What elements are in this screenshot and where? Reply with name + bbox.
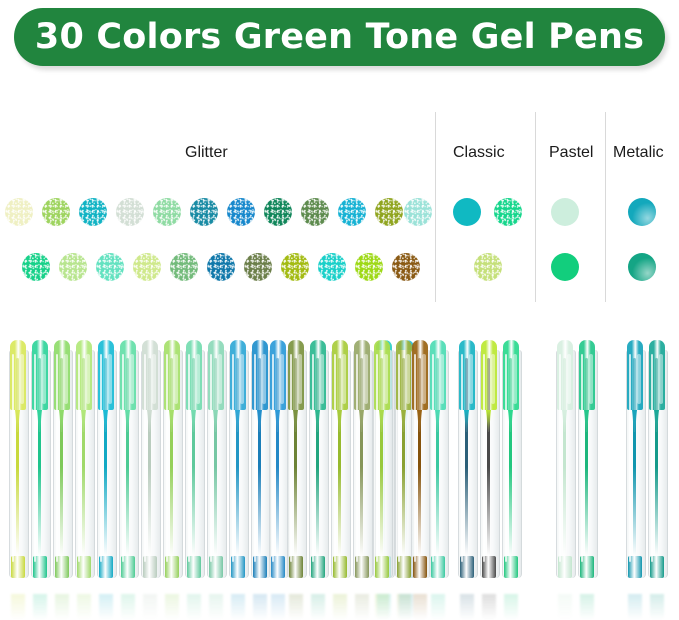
pen-reflection xyxy=(375,594,389,620)
pen-glitter-4 xyxy=(74,340,94,600)
pen-highlight xyxy=(505,354,507,562)
pen-highlight xyxy=(254,354,256,562)
color-swatch-metalic-2 xyxy=(628,253,656,281)
pen-highlight xyxy=(414,354,416,562)
pen-reflection xyxy=(121,594,135,620)
pen-reflection xyxy=(431,594,445,620)
pen-glitter-17 xyxy=(352,340,372,600)
pen-glitter-8 xyxy=(162,340,182,600)
color-swatch-glitter-row2-1 xyxy=(22,253,50,281)
pen-highlight xyxy=(432,354,434,562)
pen-reflection xyxy=(628,594,642,620)
color-swatch-glitter-row1-5 xyxy=(153,198,181,226)
pen-clip xyxy=(589,354,593,404)
color-swatch-glitter-row1-6 xyxy=(190,198,218,226)
color-swatch-glitter-row2-5 xyxy=(170,253,198,281)
pen-clip xyxy=(384,354,388,404)
pen-clip xyxy=(567,354,571,404)
pen-pastel-1 xyxy=(555,340,575,600)
pen-clip xyxy=(86,354,90,404)
color-swatch-classic-2 xyxy=(494,198,522,226)
color-swatch-glitter-row2-11 xyxy=(392,253,420,281)
pen-reflection xyxy=(397,594,411,620)
pen-highlight xyxy=(34,354,36,562)
color-swatch-classic-1 xyxy=(453,198,481,226)
pen-reflection xyxy=(77,594,91,620)
pen-clip xyxy=(108,354,112,404)
pen-glitter-9 xyxy=(184,340,204,600)
color-swatch-glitter-row1-1 xyxy=(5,198,33,226)
pen-highlight xyxy=(461,354,463,562)
pen-highlight xyxy=(166,354,168,562)
pen-classic-1 xyxy=(457,340,477,600)
pen-reflection xyxy=(333,594,347,620)
pen-clip xyxy=(262,354,266,404)
pen-reflection xyxy=(580,594,594,620)
pen-glitter-1 xyxy=(8,340,28,600)
category-label-classic: Classic xyxy=(453,144,505,162)
pen-reflection xyxy=(311,594,325,620)
pen-reflection xyxy=(460,594,474,620)
pen-highlight xyxy=(290,354,292,562)
pen-highlight xyxy=(272,354,274,562)
header-banner: 30 Colors Green Tone Gel Pens xyxy=(14,8,665,66)
pen-highlight xyxy=(312,354,314,562)
pen-glitter-11 xyxy=(228,340,248,600)
pen-highlight xyxy=(188,354,190,562)
pen-clip xyxy=(513,354,517,404)
pen-highlight xyxy=(122,354,124,562)
category-label-pastel: Pastel xyxy=(549,144,593,162)
pen-reflection xyxy=(253,594,267,620)
pen-reflection xyxy=(11,594,25,620)
category-divider-1 xyxy=(535,112,536,302)
pen-clip xyxy=(280,354,284,404)
pen-clip xyxy=(130,354,134,404)
pen-clip xyxy=(637,354,641,404)
pen-clip xyxy=(196,354,200,404)
color-swatch-glitter-row2-2 xyxy=(59,253,87,281)
pen-clip xyxy=(469,354,473,404)
pen-glitter-14 xyxy=(286,340,306,600)
pen-reflection xyxy=(558,594,572,620)
pen-reflection xyxy=(289,594,303,620)
pen-glitter-23 xyxy=(428,340,448,600)
pen-clip xyxy=(240,354,244,404)
pen-clip xyxy=(20,354,24,404)
color-swatch-classic-3 xyxy=(474,253,502,281)
pen-reflection xyxy=(482,594,496,620)
pen-reflection xyxy=(231,594,245,620)
pen-clip xyxy=(298,354,302,404)
pen-glitter-7 xyxy=(140,340,160,600)
pen-clip xyxy=(218,354,222,404)
color-swatch-pastel-2 xyxy=(551,253,579,281)
color-swatch-glitter-row2-4 xyxy=(133,253,161,281)
pen-clip xyxy=(64,354,68,404)
pen-reflection xyxy=(55,594,69,620)
pen-reflection xyxy=(413,594,427,620)
pen-highlight xyxy=(210,354,212,562)
pen-highlight xyxy=(12,354,14,562)
pen-highlight xyxy=(398,354,400,562)
pen-reflection xyxy=(143,594,157,620)
pen-reflection xyxy=(165,594,179,620)
color-swatch-glitter-row1-9 xyxy=(301,198,329,226)
pen-highlight xyxy=(356,354,358,562)
pen-reflection xyxy=(209,594,223,620)
pen-metalic-2 xyxy=(647,340,667,600)
color-swatch-glitter-row1-10 xyxy=(338,198,366,226)
pen-reflection xyxy=(99,594,113,620)
pen-clip xyxy=(491,354,495,404)
pen-reflection xyxy=(187,594,201,620)
pen-clip xyxy=(174,354,178,404)
pen-clip xyxy=(320,354,324,404)
pen-reflection xyxy=(650,594,664,620)
pen-highlight xyxy=(334,354,336,562)
pen-clip xyxy=(440,354,444,404)
category-divider-2 xyxy=(605,112,606,302)
pen-highlight xyxy=(483,354,485,562)
color-swatch-glitter-row2-10 xyxy=(355,253,383,281)
pen-highlight xyxy=(629,354,631,562)
pen-glitter-13 xyxy=(268,340,288,600)
pen-glitter-6 xyxy=(118,340,138,600)
pen-glitter-5 xyxy=(96,340,116,600)
pen-clip xyxy=(659,354,663,404)
pen-classic-2 xyxy=(479,340,499,600)
pen-highlight xyxy=(232,354,234,562)
pen-glitter-20 xyxy=(372,340,392,600)
pen-reflection xyxy=(271,594,285,620)
color-swatch-metalic-1 xyxy=(628,198,656,226)
color-swatch-glitter-row2-3 xyxy=(96,253,124,281)
pen-glitter-2 xyxy=(30,340,50,600)
pen-clip xyxy=(364,354,368,404)
pen-glitter-3 xyxy=(52,340,72,600)
pen-clip xyxy=(342,354,346,404)
color-swatch-glitter-row1-3 xyxy=(79,198,107,226)
category-label-metalic: Metalic xyxy=(613,144,664,162)
category-label-glitter: Glitter xyxy=(185,144,228,162)
page-title: 30 Colors Green Tone Gel Pens xyxy=(35,17,644,57)
color-swatch-glitter-row2-9 xyxy=(318,253,346,281)
color-swatch-glitter-row2-6 xyxy=(207,253,235,281)
pen-reflection xyxy=(504,594,518,620)
category-divider-0 xyxy=(435,112,436,302)
pen-clip xyxy=(42,354,46,404)
pen-reflection xyxy=(33,594,47,620)
color-swatch-glitter-row1-11 xyxy=(375,198,403,226)
pen-highlight xyxy=(651,354,653,562)
pen-clip xyxy=(152,354,156,404)
pen-reflection xyxy=(355,594,369,620)
pen-highlight xyxy=(78,354,80,562)
pen-highlight xyxy=(581,354,583,562)
pen-highlight xyxy=(100,354,102,562)
pen-glitter-15 xyxy=(308,340,328,600)
pen-pastel-2 xyxy=(577,340,597,600)
pen-glitter-16 xyxy=(330,340,350,600)
pen-glitter-12 xyxy=(250,340,270,600)
color-swatch-glitter-row1-12 xyxy=(404,198,432,226)
color-swatch-glitter-row1-8 xyxy=(264,198,292,226)
color-swatch-glitter-row2-8 xyxy=(281,253,309,281)
pen-glitter-22 xyxy=(410,340,430,600)
color-swatch-glitter-row1-4 xyxy=(116,198,144,226)
color-swatch-glitter-row1-2 xyxy=(42,198,70,226)
pen-clip xyxy=(422,354,426,404)
color-swatch-glitter-row1-7 xyxy=(227,198,255,226)
pen-highlight xyxy=(56,354,58,562)
pen-metalic-1 xyxy=(625,340,645,600)
color-swatch-glitter-row2-7 xyxy=(244,253,272,281)
pen-highlight xyxy=(376,354,378,562)
pen-classic-3 xyxy=(501,340,521,600)
pen-highlight xyxy=(144,354,146,562)
pen-highlight xyxy=(559,354,561,562)
pen-glitter-10 xyxy=(206,340,226,600)
color-swatch-pastel-1 xyxy=(551,198,579,226)
